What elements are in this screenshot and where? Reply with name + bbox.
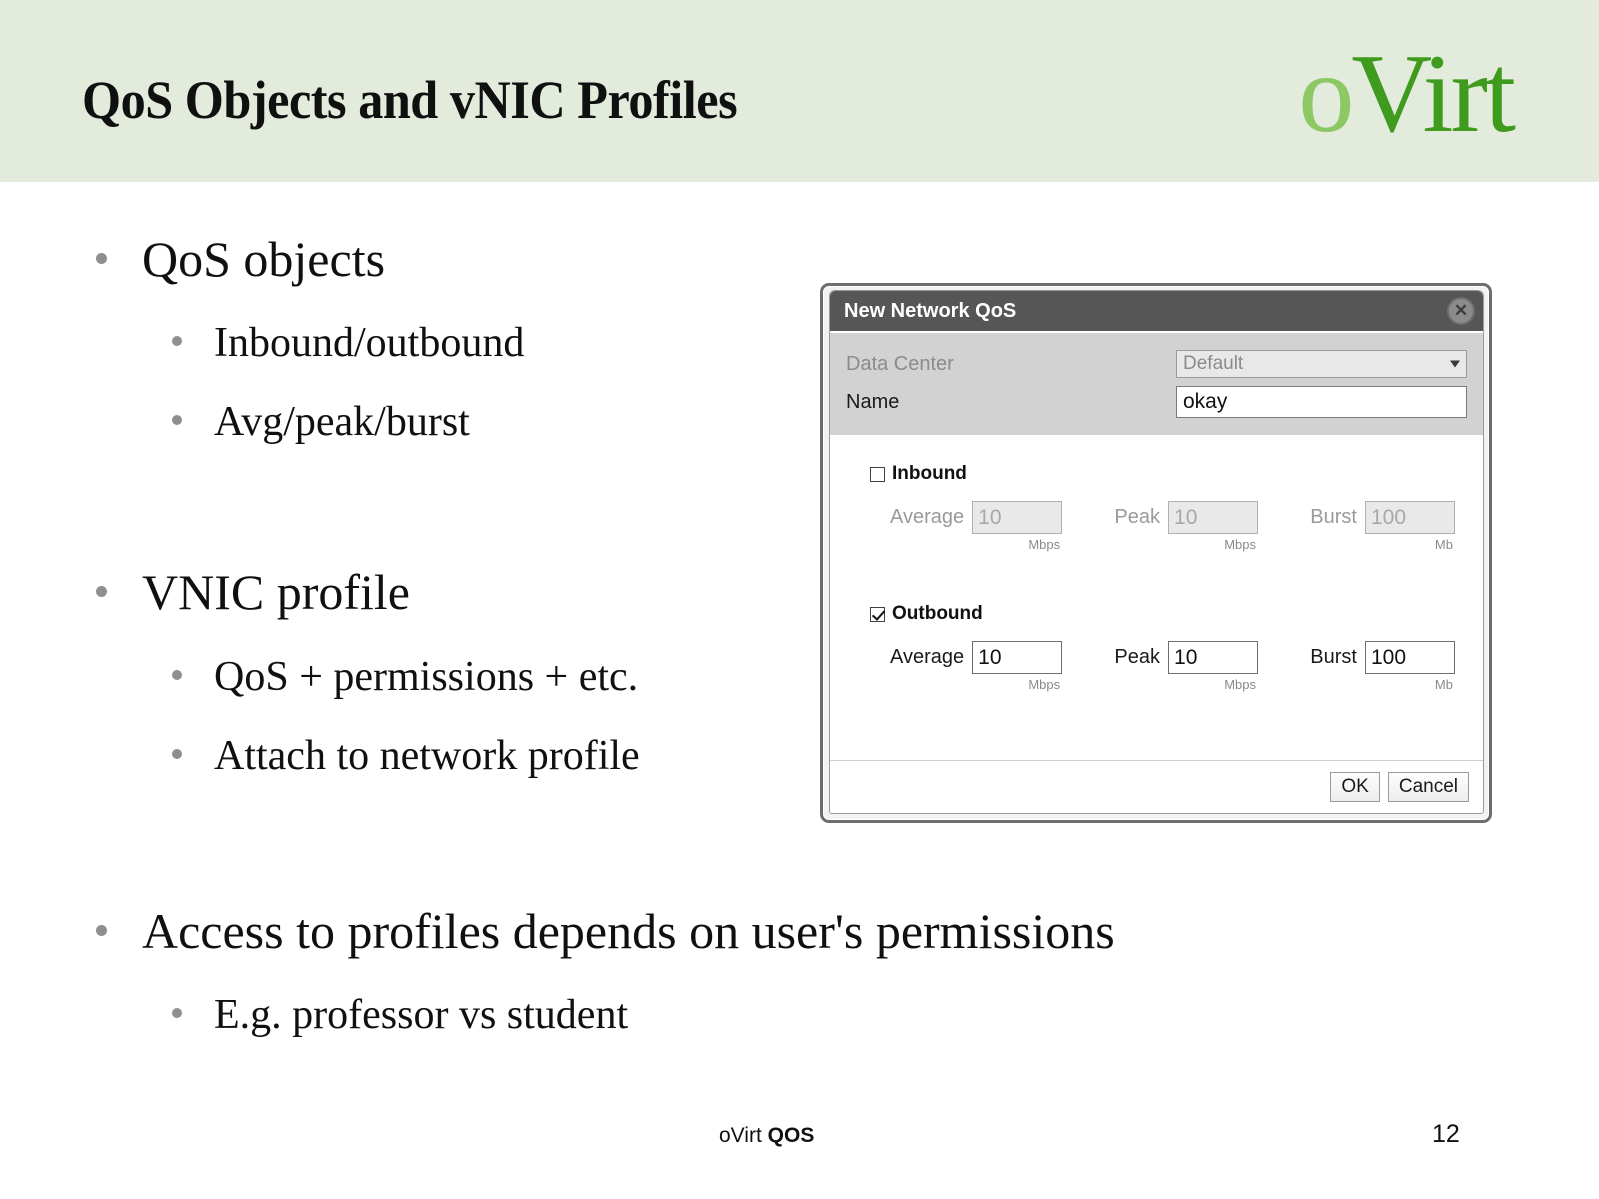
bullet-vnic-profile: VNIC profile — [96, 567, 410, 617]
bullet-dot-icon — [96, 586, 107, 597]
logo-letter-o: o — [1298, 32, 1351, 156]
bullet-text: QoS + permissions + etc. — [214, 656, 638, 698]
cancel-button[interactable]: Cancel — [1388, 772, 1469, 802]
inbound-peak-field: Peak 10 Mbps — [1114, 501, 1258, 552]
inbound-peak-label: Peak — [1114, 506, 1160, 529]
footer-brand-bold: QOS — [768, 1124, 815, 1147]
new-network-qos-dialog: New Network QoS ✕ Data Center Default Na… — [820, 283, 1492, 823]
bullet-text: Avg/peak/burst — [214, 401, 470, 443]
name-label: Name — [846, 391, 1176, 414]
page-title: QoS Objects and vNIC Profiles — [82, 72, 737, 129]
ok-button[interactable]: OK — [1330, 772, 1379, 802]
outbound-peak-value: 10 — [1174, 646, 1197, 670]
inbound-checkbox-icon[interactable] — [870, 467, 885, 482]
outbound-label: Outbound — [892, 603, 983, 625]
chevron-down-icon — [1450, 361, 1460, 368]
outbound-checkbox-row[interactable]: Outbound — [830, 603, 1483, 625]
inbound-average-value: 10 — [978, 506, 1001, 530]
outbound-fields-row: Average 10 Mbps Peak 10 — [830, 641, 1483, 692]
inbound-peak-unit: Mbps — [1114, 537, 1258, 552]
bullet-inbound-outbound: Inbound/outbound — [172, 322, 524, 364]
inbound-average-unit: Mbps — [890, 537, 1062, 552]
bullet-avg-peak-burst: Avg/peak/burst — [172, 401, 470, 443]
bullet-dot-icon — [172, 749, 182, 759]
bullet-attach-network-profile: Attach to network profile — [172, 735, 640, 777]
name-input[interactable]: okay — [1176, 386, 1467, 418]
bullet-text: Attach to network profile — [214, 735, 640, 777]
dialog-body-panel: Inbound Average 10 Mbps — [830, 435, 1483, 761]
data-center-row: Data Center Default — [846, 345, 1467, 383]
bullet-qos-permissions: QoS + permissions + etc. — [172, 656, 638, 698]
bullet-dot-icon — [172, 415, 182, 425]
bullet-dot-icon — [172, 670, 182, 680]
logo-word-virt: Virt — [1351, 32, 1513, 156]
outbound-group: Outbound Average 10 Mbps — [830, 603, 1483, 692]
outbound-burst-unit: Mb — [1310, 677, 1455, 692]
inbound-label: Inbound — [892, 463, 967, 485]
outbound-peak-input[interactable]: 10 — [1168, 641, 1258, 674]
dialog-frame: New Network QoS ✕ Data Center Default Na… — [829, 290, 1484, 814]
outbound-peak-unit: Mbps — [1114, 677, 1258, 692]
inbound-burst-label: Burst — [1310, 506, 1357, 529]
bullet-dot-icon — [96, 925, 107, 936]
data-center-select[interactable]: Default — [1176, 350, 1467, 378]
outbound-average-label: Average — [890, 646, 964, 669]
inbound-burst-field: Burst 100 Mb — [1310, 501, 1455, 552]
dialog-button-row: OK Cancel — [830, 761, 1483, 813]
dialog-titlebar: New Network QoS ✕ — [830, 291, 1483, 333]
inbound-burst-unit: Mb — [1310, 537, 1455, 552]
data-center-value: Default — [1183, 353, 1243, 375]
inbound-fields-row: Average 10 Mbps Peak 10 — [830, 501, 1483, 552]
bullet-text: E.g. professor vs student — [214, 994, 628, 1036]
name-input-value: okay — [1183, 390, 1227, 414]
outbound-checkbox-icon[interactable] — [870, 607, 885, 622]
name-row: Name okay — [846, 383, 1467, 421]
inbound-average-input[interactable]: 10 — [972, 501, 1062, 534]
outbound-peak-label: Peak — [1114, 646, 1160, 669]
outbound-average-unit: Mbps — [890, 677, 1062, 692]
outbound-average-field: Average 10 Mbps — [890, 641, 1062, 692]
bullet-qos-objects: QoS objects — [96, 234, 385, 284]
footer-brand: oVirt QOS — [719, 1124, 814, 1148]
inbound-average-field: Average 10 Mbps — [890, 501, 1062, 552]
bullet-dot-icon — [172, 1008, 182, 1018]
bullet-dot-icon — [96, 253, 107, 264]
footer-brand-light: oVirt — [719, 1124, 762, 1147]
bullet-text: Inbound/outbound — [214, 322, 524, 364]
close-icon[interactable]: ✕ — [1449, 299, 1473, 323]
inbound-average-label: Average — [890, 506, 964, 529]
inbound-burst-input[interactable]: 100 — [1365, 501, 1455, 534]
dialog-form-header: Data Center Default Name okay — [830, 333, 1483, 435]
outbound-burst-input[interactable]: 100 — [1365, 641, 1455, 674]
inbound-group: Inbound Average 10 Mbps — [830, 463, 1483, 552]
dialog-title: New Network QoS — [844, 300, 1016, 323]
outbound-average-value: 10 — [978, 646, 1001, 670]
outbound-peak-field: Peak 10 Mbps — [1114, 641, 1258, 692]
outbound-burst-field: Burst 100 Mb — [1310, 641, 1455, 692]
page-number: 12 — [1432, 1120, 1460, 1149]
inbound-checkbox-row[interactable]: Inbound — [830, 463, 1483, 485]
bullet-access-to-profiles: Access to profiles depends on user's per… — [96, 906, 1115, 956]
bullet-professor-vs-student: E.g. professor vs student — [172, 994, 628, 1036]
bullet-dot-icon — [172, 336, 182, 346]
bullet-text: QoS objects — [142, 234, 385, 284]
bullet-text: Access to profiles depends on user's per… — [142, 906, 1115, 956]
bullet-text: VNIC profile — [142, 567, 410, 617]
outbound-burst-label: Burst — [1310, 646, 1357, 669]
outbound-burst-value: 100 — [1371, 646, 1406, 670]
ovirt-logo: oVirt — [1298, 38, 1513, 150]
data-center-label: Data Center — [846, 353, 1176, 376]
inbound-peak-input[interactable]: 10 — [1168, 501, 1258, 534]
outbound-average-input[interactable]: 10 — [972, 641, 1062, 674]
inbound-burst-value: 100 — [1371, 506, 1406, 530]
inbound-peak-value: 10 — [1174, 506, 1197, 530]
